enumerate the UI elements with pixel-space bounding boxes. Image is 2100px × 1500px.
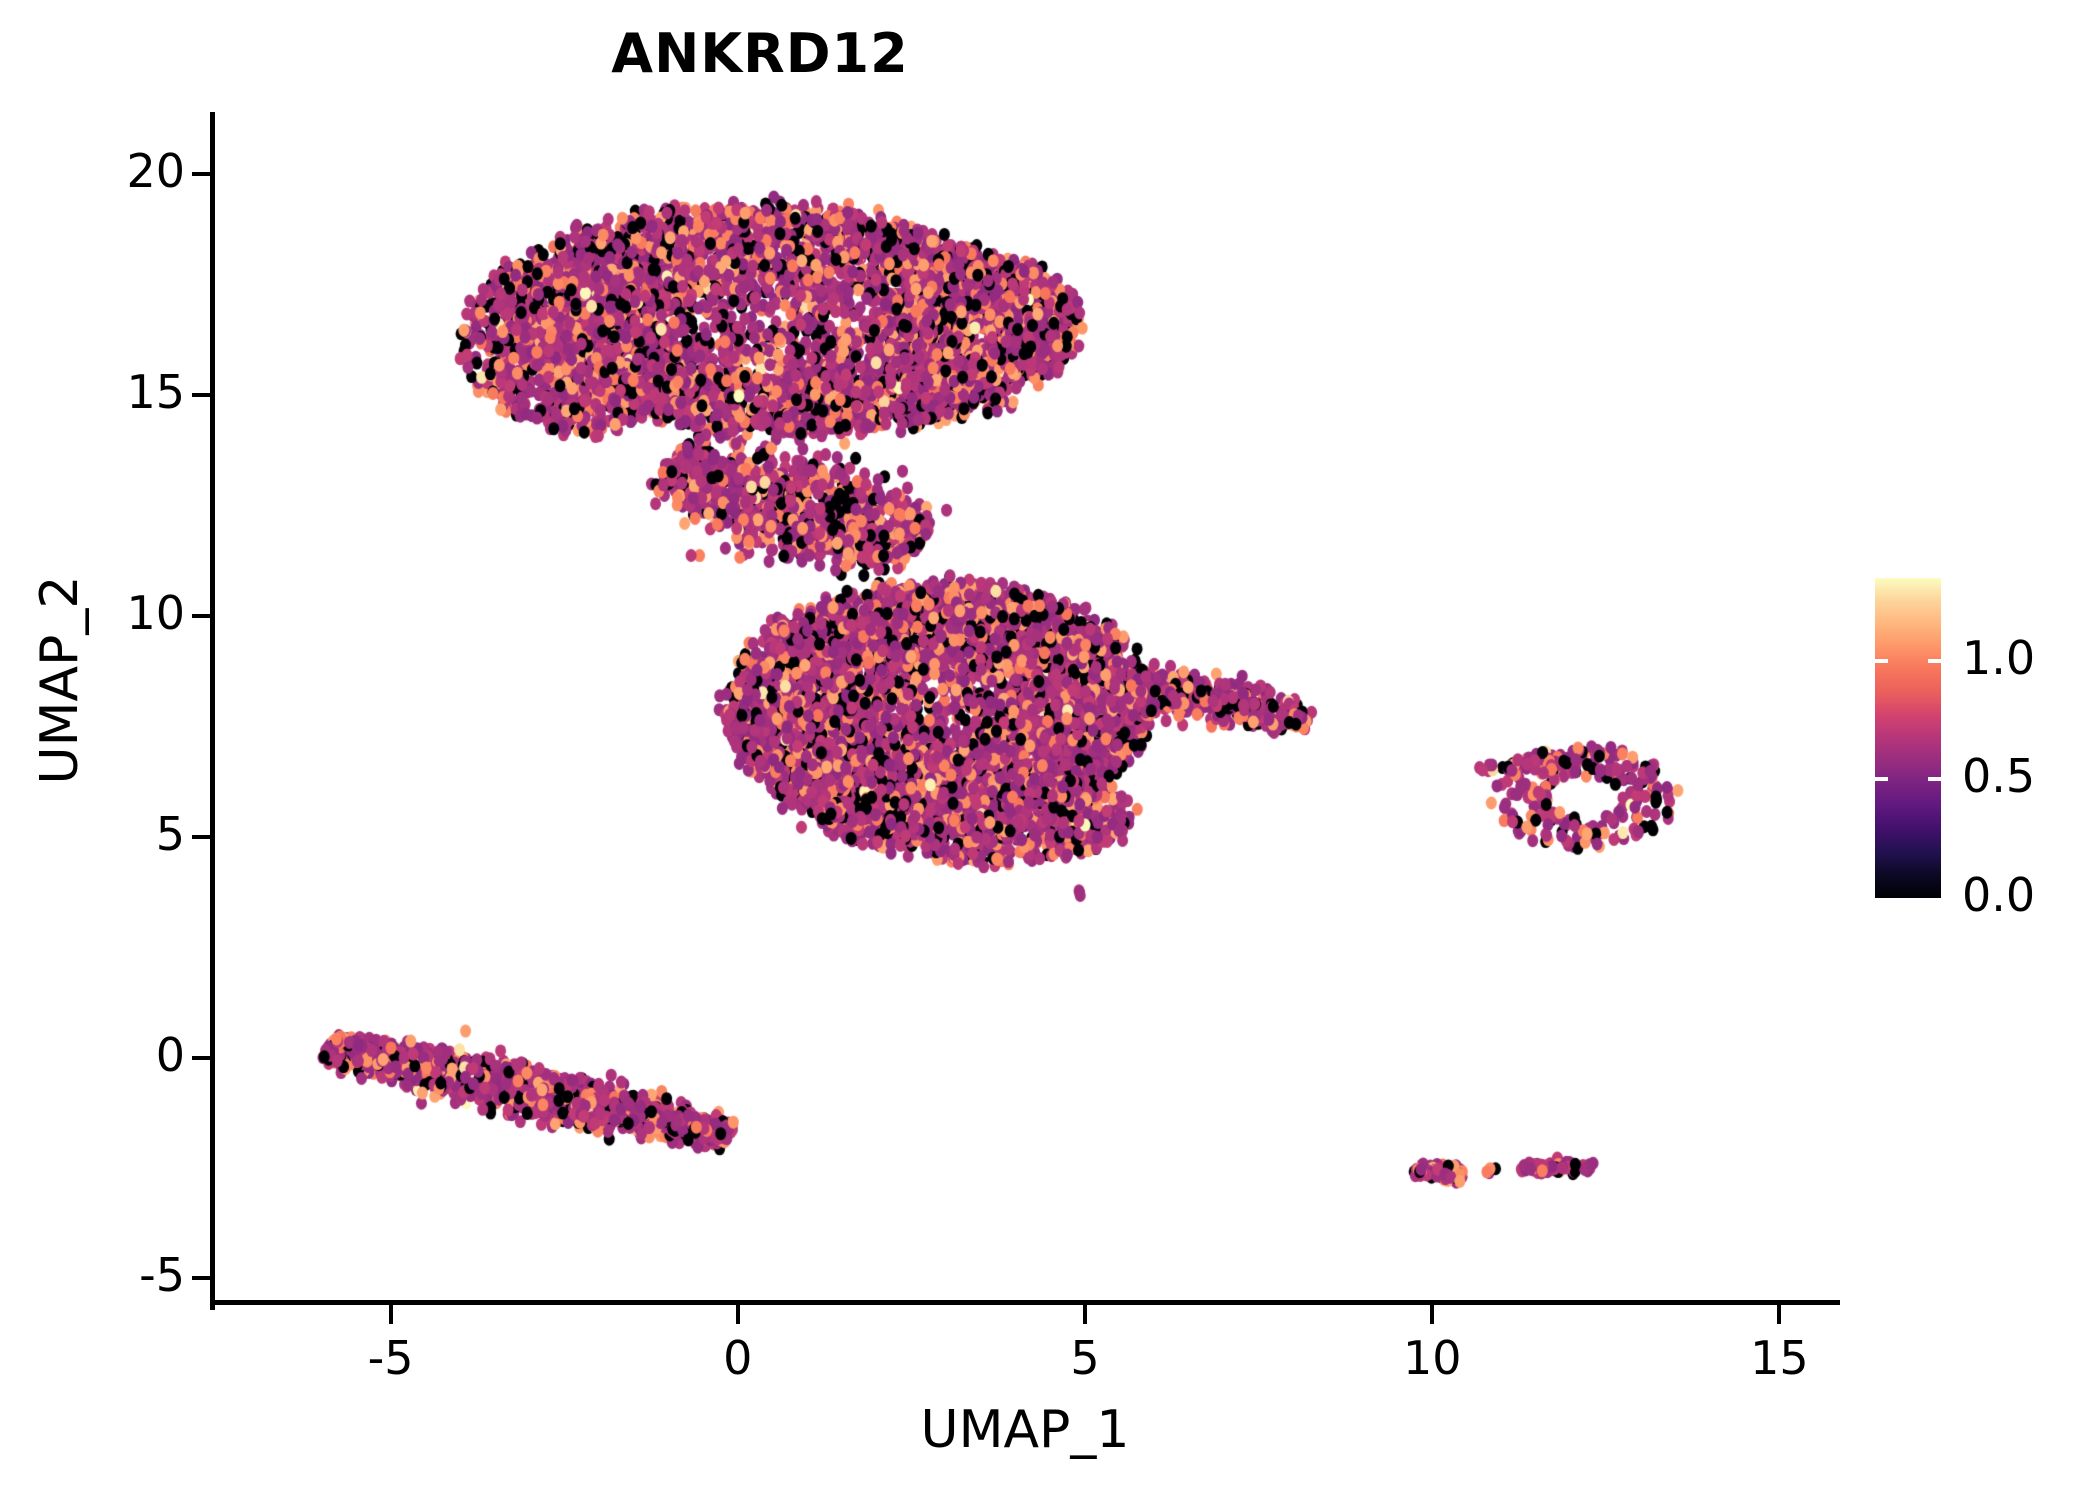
colorbar-tick-label: 0.5 xyxy=(1962,749,2035,803)
x-tick-label: 15 xyxy=(1689,1331,1869,1385)
x-tick-label: 0 xyxy=(648,1331,828,1385)
y-tick-label: -5 xyxy=(139,1248,185,1302)
y-tick-mark xyxy=(192,614,211,618)
colorbar xyxy=(1875,578,1941,898)
y-axis-spine xyxy=(210,112,215,1310)
y-tick-mark xyxy=(192,835,211,839)
scatter-plot-canvas xyxy=(210,112,1835,1305)
colorbar-tick-mark xyxy=(1928,659,1941,663)
colorbar-tick-mark xyxy=(1875,659,1888,663)
x-axis-spine xyxy=(210,1300,1840,1305)
y-axis-label: UMAP_2 xyxy=(30,80,90,1280)
plot-axes-area xyxy=(210,112,1835,1305)
y-tick-mark xyxy=(192,1276,211,1280)
x-tick-mark xyxy=(736,1305,740,1324)
x-tick-label: -5 xyxy=(301,1331,481,1385)
x-tick-mark xyxy=(389,1305,393,1324)
y-tick-mark xyxy=(192,172,211,176)
y-tick-label: 20 xyxy=(126,144,185,198)
colorbar-tick-label: 0.0 xyxy=(1962,868,2035,922)
page-title: ANKRD12 xyxy=(0,22,1520,85)
umap-feature-plot-figure: ANKRD12 -505101520 -5051015 UMAP_1 UMAP_… xyxy=(0,0,2100,1500)
y-tick-label: 0 xyxy=(156,1028,185,1082)
x-tick-mark xyxy=(1777,1305,1781,1324)
colorbar-tick-mark xyxy=(1875,777,1888,781)
y-tick-mark xyxy=(192,393,211,397)
x-tick-label: 10 xyxy=(1342,1331,1522,1385)
colorbar-gradient xyxy=(1875,578,1941,898)
colorbar-tick-mark xyxy=(1928,777,1941,781)
colorbar-tick-label: 1.0 xyxy=(1962,631,2035,685)
x-tick-mark xyxy=(1430,1305,1434,1324)
x-axis-label: UMAP_1 xyxy=(210,1400,1840,1460)
y-tick-label: 15 xyxy=(126,365,185,419)
y-tick-label: 10 xyxy=(126,586,185,640)
x-tick-mark xyxy=(1083,1305,1087,1324)
y-tick-label: 5 xyxy=(156,807,185,861)
x-tick-label: 5 xyxy=(995,1331,1175,1385)
y-tick-mark xyxy=(192,1056,211,1060)
